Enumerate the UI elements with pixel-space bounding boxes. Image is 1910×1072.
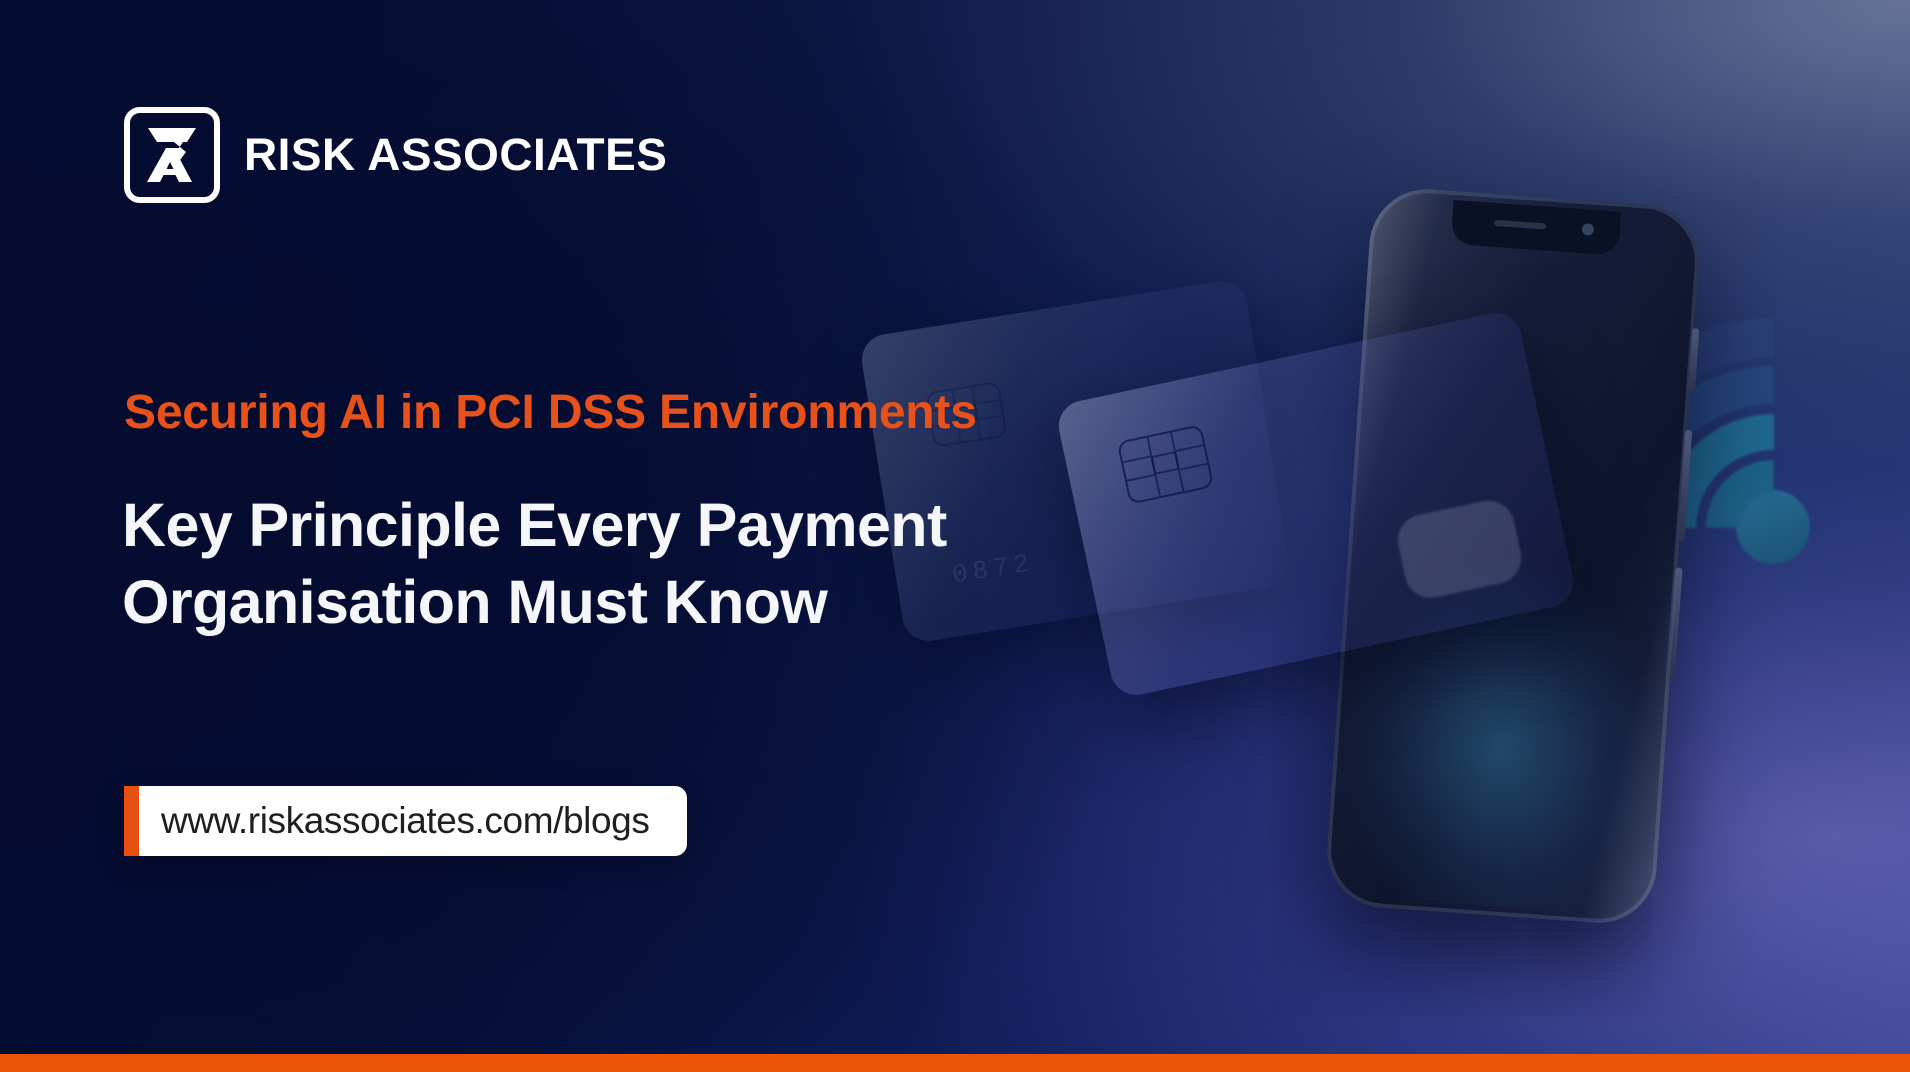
url-accent-bar [124,786,139,856]
headline-line-1: Key Principle Every Payment [122,487,947,564]
website-url-text: www.riskassociates.com/blogs [139,786,687,856]
blog-banner: 0872 RISK ASSOCIATES Securing AI in PCI … [0,0,1910,1072]
brand-lockup[interactable]: RISK ASSOCIATES [124,107,659,203]
risk-associates-monogram-icon [124,107,220,203]
page-title: Key Principle Every Payment Organisation… [122,487,947,641]
eyebrow-text: Securing AI in PCI DSS Environments [124,385,977,440]
headline-line-2: Organisation Must Know [122,564,947,641]
bottom-accent-bar [0,1054,1910,1072]
website-url-pill[interactable]: www.riskassociates.com/blogs [124,786,687,856]
brand-name: RISK ASSOCIATES [244,129,667,181]
